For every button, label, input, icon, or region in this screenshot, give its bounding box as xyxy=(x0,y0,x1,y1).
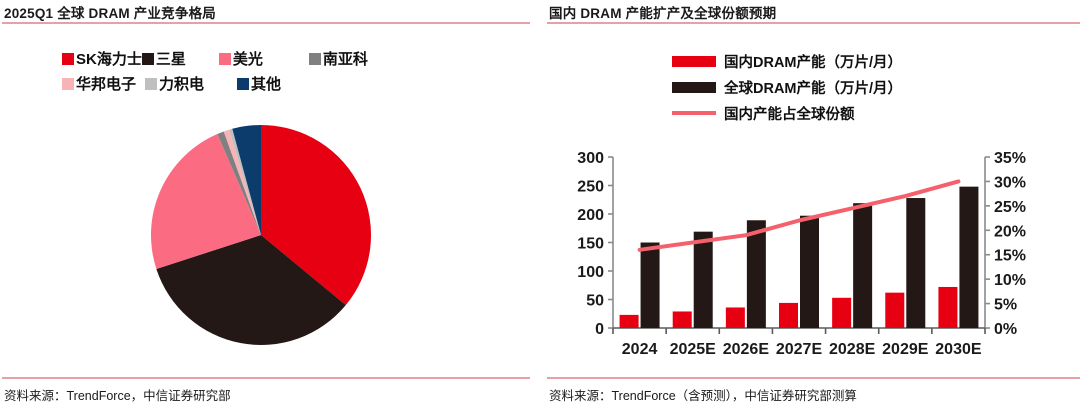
y-tick-label-left-50: 50 xyxy=(586,293,604,310)
bar-domestic-2027E[interactable] xyxy=(779,303,798,328)
bar-global-2030E[interactable] xyxy=(959,187,978,328)
source-note-left: 资料来源：TrendForce，中信证券研究部 xyxy=(4,385,231,404)
legend-label-samsung: 三星 xyxy=(156,48,186,69)
x-tick-label-2030E: 2030E xyxy=(935,341,982,358)
x-tick-label-2025E: 2025E xyxy=(670,341,717,358)
bar-global-2027E[interactable] xyxy=(800,216,819,328)
legend-item-sk-hynix[interactable]: SK海力士 xyxy=(62,48,142,69)
pie-legend-row-2: 华邦电子 力积电 其他 xyxy=(62,71,482,96)
legend-item-others[interactable]: 其他 xyxy=(237,73,281,94)
bar-chart-svg: 0501001502002503000%5%10%15%20%25%30%35%… xyxy=(545,0,1080,410)
pie-legend: SK海力士 三星 美光 南亚科 华邦电子 xyxy=(62,46,482,96)
legend-item-winbond[interactable]: 华邦电子 xyxy=(62,73,136,94)
pie-svg xyxy=(133,117,389,353)
legend-swatch-psmc xyxy=(145,78,157,90)
legend-label-sk-hynix: SK海力士 xyxy=(76,48,142,69)
x-tick-label-2028E: 2028E xyxy=(829,341,876,358)
legend-label-psmc: 力积电 xyxy=(159,73,204,94)
page-title-left: 2025Q1 全球 DRAM 产业竞争格局 xyxy=(4,2,216,22)
y-tick-label-left-200: 200 xyxy=(577,207,604,224)
legend-item-nanya[interactable]: 南亚科 xyxy=(309,48,368,69)
legend-item-micron[interactable]: 美光 xyxy=(219,48,263,69)
bar-domestic-2028E[interactable] xyxy=(832,298,851,328)
x-tick-label-2029E: 2029E xyxy=(882,341,929,358)
y-tick-label-left-150: 150 xyxy=(577,236,604,253)
legend-swatch-winbond xyxy=(62,78,74,90)
y-tick-label-right-35%: 35% xyxy=(994,150,1026,167)
bar-domestic-2025E[interactable] xyxy=(673,311,692,328)
title-divider-left xyxy=(2,22,530,24)
bar-chart: 0501001502002503000%5%10%15%20%25%30%35%… xyxy=(545,0,1080,410)
pie-slice-group xyxy=(151,125,371,345)
bar-domestic-2030E[interactable] xyxy=(938,287,957,328)
legend-swatch-samsung xyxy=(142,53,154,65)
bar-global-2024[interactable] xyxy=(641,243,660,329)
y-tick-label-right-10%: 10% xyxy=(994,272,1026,289)
bar-global-2026E[interactable] xyxy=(747,220,766,328)
legend-label-winbond: 华邦电子 xyxy=(76,73,136,94)
y-tick-label-right-5%: 5% xyxy=(994,297,1017,314)
legend-label-others: 其他 xyxy=(251,73,281,94)
figure-root: 2025Q1 全球 DRAM 产业竞争格局 SK海力士 三星 美光 xyxy=(0,0,1080,410)
pie-chart xyxy=(133,117,389,353)
legend-item-samsung[interactable]: 三星 xyxy=(142,48,186,69)
legend-swatch-nanya xyxy=(309,53,321,65)
y-tick-label-right-20%: 20% xyxy=(994,223,1026,240)
legend-item-psmc[interactable]: 力积电 xyxy=(145,73,204,94)
footer-divider-left xyxy=(2,377,530,379)
bar-global-2028E[interactable] xyxy=(853,203,872,328)
y-tick-label-right-15%: 15% xyxy=(994,248,1026,265)
y-tick-label-left-250: 250 xyxy=(577,179,604,196)
y-tick-label-left-0: 0 xyxy=(595,321,604,338)
bar-domestic-2024[interactable] xyxy=(620,315,639,328)
panel-pie-chart: 2025Q1 全球 DRAM 产业竞争格局 SK海力士 三星 美光 xyxy=(0,0,540,410)
legend-swatch-micron xyxy=(219,53,231,65)
bar-domestic-2029E[interactable] xyxy=(885,293,904,328)
x-tick-label-2024: 2024 xyxy=(622,341,658,358)
legend-label-nanya: 南亚科 xyxy=(323,48,368,69)
y-tick-label-right-0%: 0% xyxy=(994,321,1017,338)
x-tick-label-2026E: 2026E xyxy=(723,341,770,358)
pie-legend-row-1: SK海力士 三星 美光 南亚科 xyxy=(62,46,482,71)
legend-label-micron: 美光 xyxy=(233,48,263,69)
bar-global-2025E[interactable] xyxy=(694,232,713,328)
x-tick-label-2027E: 2027E xyxy=(776,341,823,358)
bar-chart-group: 0501001502002503000%5%10%15%20%25%30%35%… xyxy=(577,150,1026,358)
y-tick-label-left-100: 100 xyxy=(577,264,604,281)
y-tick-label-right-30%: 30% xyxy=(994,174,1026,191)
y-tick-label-left-300: 300 xyxy=(577,150,604,167)
y-tick-label-right-25%: 25% xyxy=(994,199,1026,216)
bar-domestic-2026E[interactable] xyxy=(726,307,745,328)
legend-swatch-sk-hynix xyxy=(62,53,74,65)
legend-swatch-others xyxy=(237,78,249,90)
bar-global-2029E[interactable] xyxy=(906,198,925,328)
